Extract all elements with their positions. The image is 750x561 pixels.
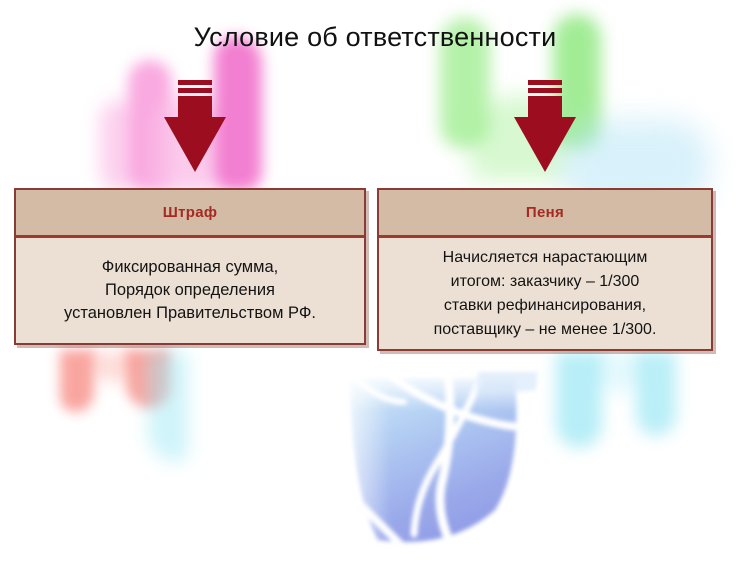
arrow-shaft-band <box>528 80 562 85</box>
arrow-head <box>514 117 576 172</box>
panel-fine: Штраф Фиксированная сумма, Порядок опред… <box>14 188 366 345</box>
down-arrow-icon-left <box>164 80 226 172</box>
panel-penalty-header: Пеня <box>379 190 711 238</box>
cyan-shape <box>596 352 642 392</box>
arrow-shaft-band <box>528 88 562 93</box>
coral-shape <box>126 350 170 408</box>
panel-fine-header: Штраф <box>16 190 364 238</box>
down-arrow-icon-right <box>514 80 576 172</box>
panel-fine-line: Порядок определения <box>105 279 275 302</box>
arrow-shaft-band <box>178 88 212 93</box>
panel-penalty-line: итогом: заказчику – 1/300 <box>451 270 640 294</box>
cyan-shape <box>556 352 602 448</box>
coral-shape <box>88 352 138 382</box>
cyan-shape <box>636 352 676 436</box>
arrow-shaft-band <box>178 96 212 118</box>
page-title: Условие об ответственности <box>0 20 750 54</box>
panel-penalty-header-label: Пеня <box>526 204 564 221</box>
cyan-shape <box>148 352 188 462</box>
panel-penalty-body: Начисляется нарастающим итогом: заказчик… <box>379 238 711 349</box>
coral-shape <box>60 350 94 412</box>
arrow-head <box>164 117 226 172</box>
panel-fine-header-label: Штраф <box>163 204 218 221</box>
arrow-shaft-band <box>528 96 562 118</box>
slide-canvas: Условие об ответственности Штраф Фиксиро… <box>0 0 750 561</box>
panel-penalty-line: поставщику – не менее 1/300. <box>434 318 657 342</box>
panel-fine-line: установлен Правительством РФ. <box>64 302 316 325</box>
pink-ribbon-shape <box>100 100 140 192</box>
panel-fine-line: Фиксированная сумма, <box>102 256 278 279</box>
panel-penalty-line: Начисляется нарастающим <box>443 246 648 270</box>
panel-penalty-line: ставки рефинансирования, <box>444 294 646 318</box>
panel-penalty: Пеня Начисляется нарастающим итогом: зак… <box>377 188 713 351</box>
globe-graphic <box>330 372 590 561</box>
arrow-shaft-band <box>178 80 212 85</box>
panel-fine-body: Фиксированная сумма, Порядок определения… <box>16 238 364 343</box>
